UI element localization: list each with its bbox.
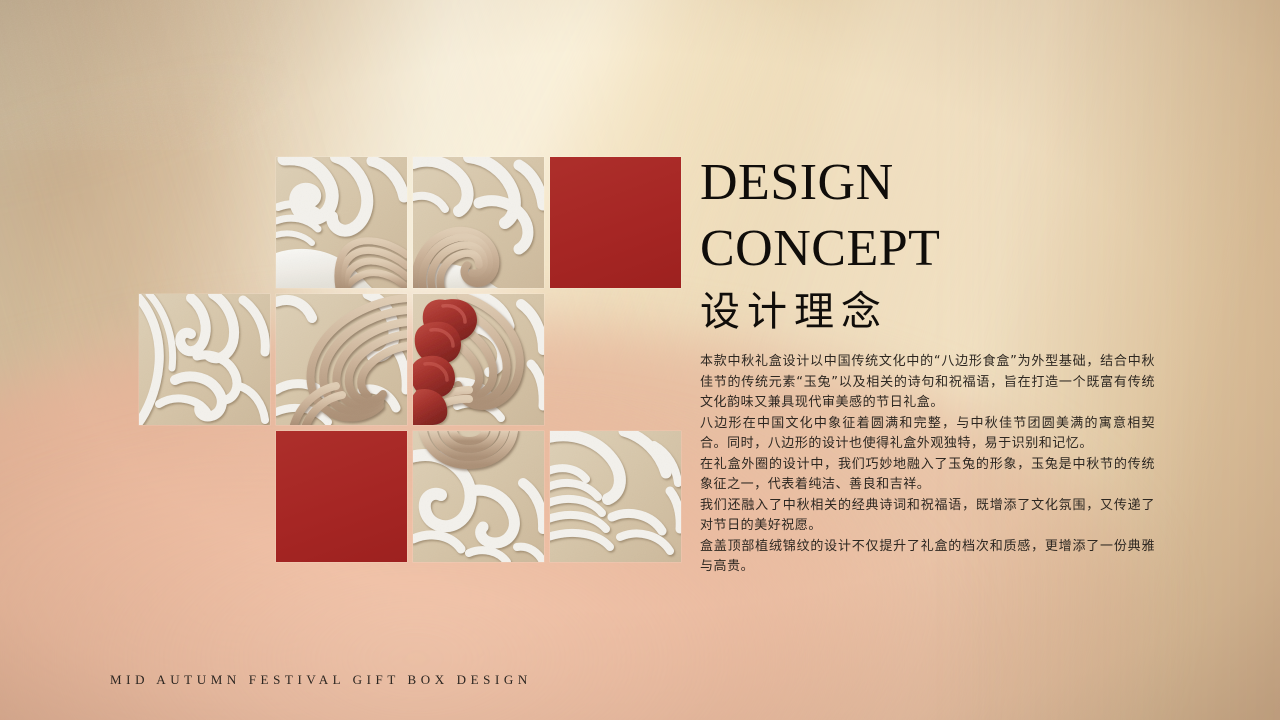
gift-box-pattern-tile-r0c1: [276, 157, 407, 288]
slide-canvas: DESIGN CONCEPT 设计理念 本款中秋礼盒设计以中国传统文化中的“八边…: [0, 0, 1280, 720]
page-title-line-1: DESIGN: [700, 150, 1170, 216]
gift-box-pattern-tile-r0c2: [413, 157, 544, 288]
accent-red-tile-bottom-left: [276, 431, 407, 562]
gift-box-photo-mosaic: [139, 157, 680, 561]
body-paragraph: 我们还融入了中秋相关的经典诗词和祝福语，既增添了文化氛围，又传递了对节日的美好祝…: [700, 496, 1155, 537]
body-copy-block: 本款中秋礼盒设计以中国传统文化中的“八边形食盒”为外型基础，结合中秋佳节的传统元…: [700, 352, 1155, 578]
footer-caption: MID AUTUMN FESTIVAL GIFT BOX DESIGN: [110, 672, 532, 688]
page-title-line-2: CONCEPT: [700, 216, 1170, 282]
body-paragraph: 八边形在中国文化中象征着圆满和完整，与中秋佳节团圆美满的寓意相契合。同时，八边形…: [700, 414, 1155, 455]
headline-block: DESIGN CONCEPT 设计理念: [700, 150, 1170, 340]
page-subtitle-chinese: 设计理念: [700, 284, 1170, 340]
gift-box-pattern-tile-r2c2: [413, 431, 544, 562]
gift-box-pattern-tile-r1c1: [276, 294, 407, 425]
gift-box-pattern-tile-r2c3: [550, 431, 681, 562]
gift-box-knot-tile-r1c2: [413, 294, 544, 425]
body-paragraph: 在礼盒外圈的设计中，我们巧妙地融入了玉兔的形象，玉兔是中秋节的传统象征之一，代表…: [700, 455, 1155, 496]
accent-red-tile-top-right: [550, 157, 681, 288]
background-grain-texture: [0, 0, 300, 150]
body-paragraph: 本款中秋礼盒设计以中国传统文化中的“八边形食盒”为外型基础，结合中秋佳节的传统元…: [700, 352, 1155, 414]
body-paragraph: 盒盖顶部植绒锦纹的设计不仅提升了礼盒的档次和质感，更增添了一份典雅与高贵。: [700, 537, 1155, 578]
gift-box-pattern-tile-r1c0: [139, 294, 270, 425]
